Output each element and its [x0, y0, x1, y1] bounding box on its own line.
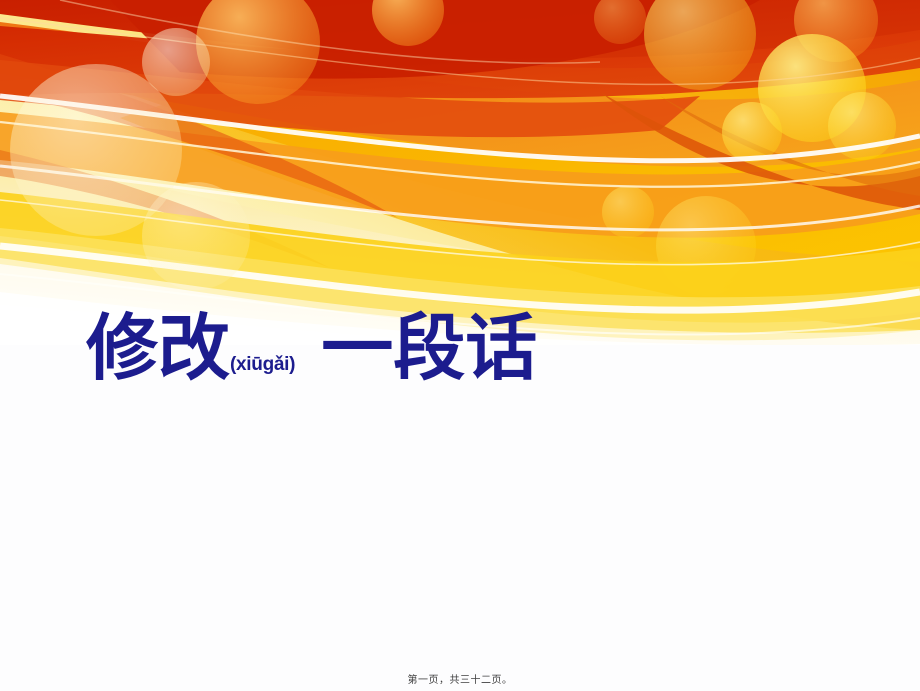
page-title: 修改 (xiūgǎi) 一段话: [86, 312, 537, 384]
slide-canvas: 修改 (xiūgǎi) 一段话 第一页，共三十二页。: [0, 0, 920, 691]
decorative-banner: [0, 0, 920, 345]
swoosh-graphic: [0, 0, 920, 345]
slide-footer: 第一页，共三十二页。: [0, 670, 920, 688]
title-pinyin: (xiūgǎi): [230, 354, 295, 384]
page-number-label: 第一页，共三十二页。: [408, 675, 513, 686]
title-text-secondary: 一段话: [321, 312, 537, 384]
title-text-primary: 修改: [86, 312, 230, 384]
